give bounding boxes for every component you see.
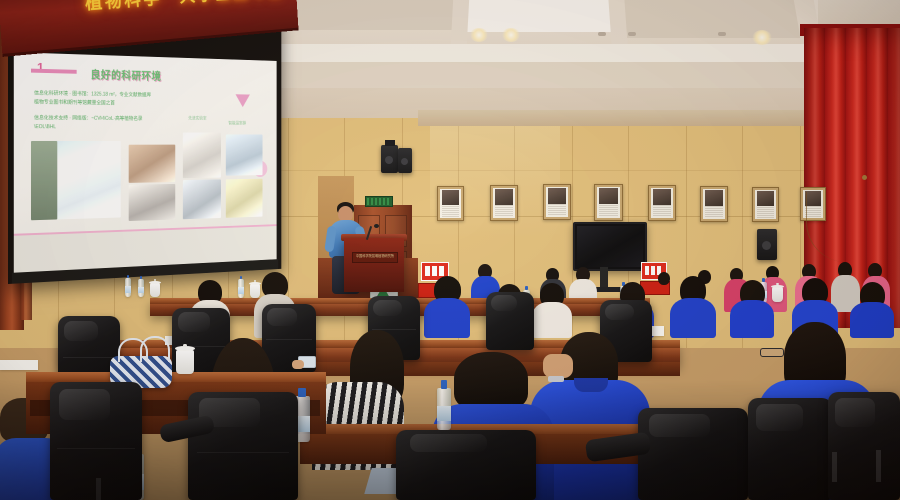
notebook-paper bbox=[0, 360, 38, 370]
speaker-mount-bracket bbox=[385, 140, 395, 146]
slide-title: 良好的科研环境 bbox=[90, 67, 161, 84]
audience-hand bbox=[292, 360, 304, 369]
chair-leg bbox=[876, 450, 881, 482]
handbag-strap bbox=[140, 336, 170, 362]
water-bottle bbox=[437, 388, 451, 430]
water-bottle bbox=[138, 279, 144, 297]
conference-chair-front[interactable] bbox=[748, 398, 832, 500]
slide-sublabel-1: 先进实验室 bbox=[188, 116, 206, 122]
ceiling-vent bbox=[718, 32, 726, 36]
audience-hair bbox=[454, 352, 528, 410]
podium-microphone-head bbox=[374, 224, 379, 228]
audience-body bbox=[670, 298, 716, 338]
slide-sublabel-2: 智能温室群 bbox=[228, 120, 246, 126]
exit-sign bbox=[365, 196, 393, 207]
scientist-portrait bbox=[490, 185, 518, 221]
wall-speaker-left-sub bbox=[398, 148, 412, 173]
ceiling-downlight bbox=[502, 28, 520, 42]
slide-body-line-2: 植物专业图书和期刊等馆藏量全国之首 bbox=[34, 99, 115, 108]
scientist-portrait bbox=[437, 186, 464, 221]
projection-screen: 1 良好的科研环境 良好的科研环境 信息化科研环境 · 图书馆：1325.18 … bbox=[14, 52, 277, 274]
water-bottle bbox=[125, 278, 131, 297]
event-banner-text: 植物科学” 大学生夏令营 bbox=[84, 0, 285, 15]
audience-collar bbox=[574, 378, 608, 392]
slide-thumbnail-lab bbox=[128, 145, 175, 183]
slide-thumbnail-library bbox=[183, 132, 221, 178]
slide-thumbnail-specimen bbox=[226, 179, 262, 218]
ceiling-downlight bbox=[752, 30, 772, 45]
wall-speaker-left bbox=[381, 145, 398, 173]
slide-thumbnail-stacks bbox=[183, 179, 221, 219]
scientist-portrait bbox=[543, 184, 571, 220]
scientist-portrait bbox=[752, 187, 779, 222]
tea-cup bbox=[176, 350, 194, 374]
eyeglasses bbox=[760, 348, 784, 357]
slide-thumbnail-tree bbox=[31, 141, 57, 220]
conference-chair[interactable] bbox=[486, 292, 534, 350]
tea-cup bbox=[150, 283, 160, 297]
slide-triangle-marker bbox=[236, 94, 250, 107]
audience-body bbox=[424, 298, 470, 338]
scientist-portrait bbox=[648, 185, 676, 221]
slide-thumbnail-corridor bbox=[128, 184, 175, 221]
conference-chair-front[interactable] bbox=[828, 392, 900, 500]
conference-chair-front[interactable] bbox=[188, 392, 298, 500]
slide-thumbnail-greenhouse bbox=[226, 135, 262, 176]
ceiling-vent bbox=[628, 32, 636, 36]
scientist-portrait bbox=[700, 186, 728, 222]
cable-anchor bbox=[862, 175, 867, 180]
slide-body-line-4: \EOL\BHL bbox=[34, 124, 56, 132]
lecture-hall-photo: 1 良好的科研环境 良好的科研环境 信息化科研环境 · 图书馆：1325.18 … bbox=[0, 0, 900, 500]
chair-leg bbox=[96, 478, 101, 500]
conference-chair-front[interactable] bbox=[638, 408, 748, 500]
slide-body-line-3: 信息化技术支持 · 网络版：~CVH\CoL·高等植物名录 bbox=[34, 116, 142, 124]
ceiling-vent bbox=[598, 32, 606, 36]
scientist-portrait bbox=[594, 184, 623, 221]
wall-upper-recess bbox=[418, 110, 818, 126]
chair-leg bbox=[832, 452, 837, 482]
conference-chair-front[interactable] bbox=[396, 430, 536, 500]
ceiling-downlight bbox=[470, 28, 488, 42]
